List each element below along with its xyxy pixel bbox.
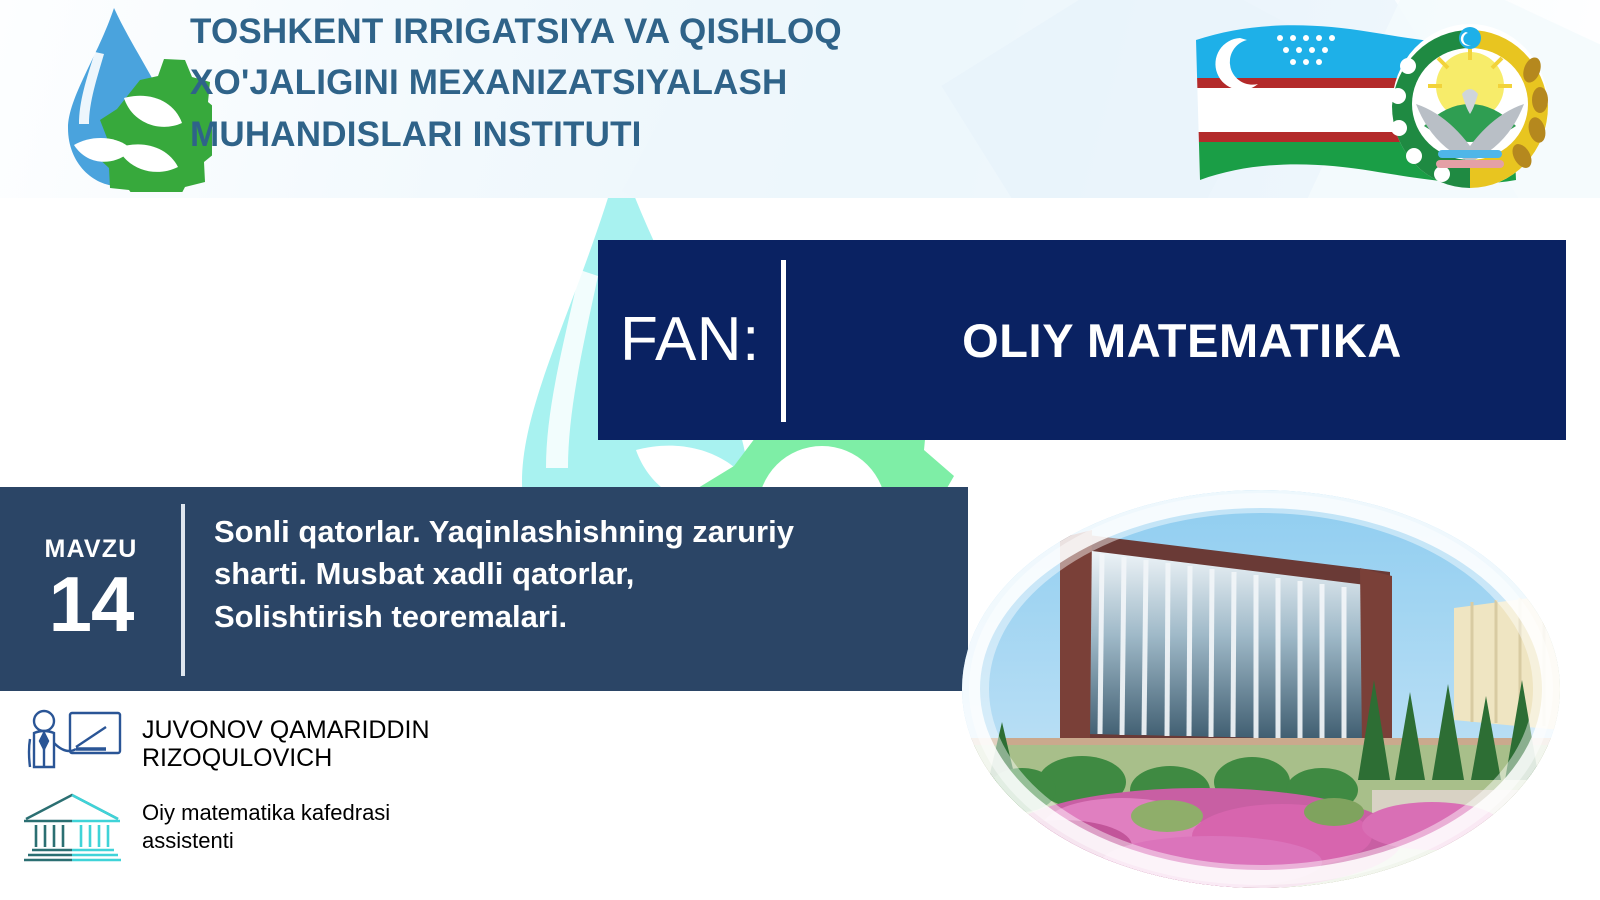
topic-divider xyxy=(181,504,185,676)
institute-logo-icon xyxy=(52,6,212,192)
author-name-line-2: RIZOQULOVICH xyxy=(142,745,430,773)
institute-name-line-1: TOSHKENT IRRIGATSIYA VA QISHLOQ xyxy=(190,6,950,57)
author-name-line-1: JUVONOV QAMARIDDIN xyxy=(142,717,430,745)
topic-number: 14 xyxy=(49,566,134,642)
subject-banner: FAN: OLIY MATEMATIKA xyxy=(598,240,1566,440)
institute-name-line-2: XO'JALIGINI MEXANIZATSIYALASH xyxy=(190,57,950,108)
subject-divider xyxy=(781,260,786,422)
teacher-at-board-icon xyxy=(20,705,124,779)
topic-title-line-1: Sonli qatorlar. Yaqinlashishning zaruriy xyxy=(214,511,954,553)
institute-name: TOSHKENT IRRIGATSIYA VA QISHLOQ XO'JALIG… xyxy=(190,6,950,160)
uzbekistan-flag-icon xyxy=(1180,8,1580,204)
classical-building-icon xyxy=(20,789,124,863)
author-role: Oiy matematika kafedrasi assistenti xyxy=(142,799,390,855)
topic-title-line-3: Solishtirish teoremalari. xyxy=(214,596,954,638)
author-block: JUVONOV QAMARIDDIN RIZOQULOVICH xyxy=(20,705,580,873)
author-name: JUVONOV QAMARIDDIN RIZOQULOVICH xyxy=(142,717,430,772)
author-role-line-2: assistenti xyxy=(142,827,390,855)
institute-name-line-3: MUHANDISLARI INSTITUTI xyxy=(190,109,950,160)
institute-building-photo xyxy=(962,490,1560,888)
topic-band: MAVZU 14 Sonli qatorlar. Yaqinlashishnin… xyxy=(0,487,968,691)
subject-value: OLIY MATEMATIKA xyxy=(798,240,1566,440)
author-role-line-1: Oiy matematika kafedrasi xyxy=(142,799,390,827)
subject-label: FAN: xyxy=(620,290,780,390)
author-name-row: JUVONOV QAMARIDDIN RIZOQULOVICH xyxy=(20,705,580,779)
author-role-row: Oiy matematika kafedrasi assistenti xyxy=(20,789,580,863)
topic-number-group: MAVZU 14 xyxy=(0,487,182,691)
topic-title-line-2: sharti. Musbat xadli qatorlar, xyxy=(214,553,954,595)
slide-root: TOSHKENT IRRIGATSIYA VA QISHLOQ XO'JALIG… xyxy=(0,0,1600,900)
topic-title: Sonli qatorlar. Yaqinlashishning zaruriy… xyxy=(214,511,954,638)
